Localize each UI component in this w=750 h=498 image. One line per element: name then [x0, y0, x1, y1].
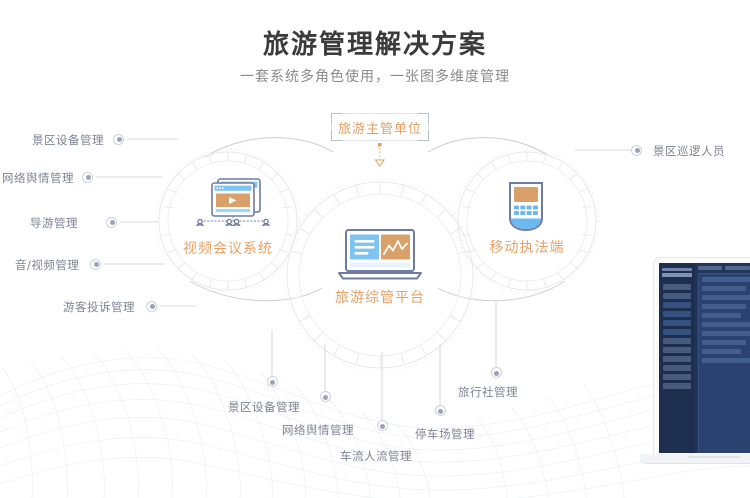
- dashboard-tree-row: [702, 322, 750, 327]
- spoke-dot-bottom-4: [491, 367, 502, 378]
- dashboard-tree-row: [702, 358, 750, 363]
- laptop-base: [640, 454, 750, 463]
- spoke-dot-left-4: [146, 301, 157, 312]
- spoke-dot-left-1: [82, 172, 93, 183]
- dashboard-main: [695, 263, 750, 453]
- spoke-dot-left-2: [106, 217, 117, 228]
- node-label-tourism-platform: 旅游综管平台: [280, 287, 480, 307]
- spoke-dot-left-3: [90, 259, 101, 270]
- spoke-label-left-2: 导游管理: [30, 215, 78, 231]
- dashboard-tree-row: [702, 286, 746, 291]
- dashboard-menu-item: [663, 338, 691, 344]
- dashboard-menu-item: [663, 365, 691, 371]
- spoke-dot-bottom-3: [435, 405, 446, 416]
- spoke-label-left-3: 音/视频管理: [15, 257, 79, 273]
- spoke-dot-bottom-1: [320, 391, 331, 402]
- dashboard-menu-item: [663, 347, 691, 353]
- spoke-label-left-1: 网络舆情管理: [2, 170, 74, 186]
- laptop-chart-icon: [334, 228, 426, 284]
- dashboard-tree-row: [702, 331, 750, 336]
- dashboard-preview: [659, 263, 750, 453]
- spoke-label-bottom-1: 网络舆情管理: [282, 422, 354, 438]
- infographic-canvas: 旅游管理解决方案 一套系统多角色使用，一张图多维度管理 旅游主管单位: [0, 0, 750, 498]
- dashboard-menu-item: [663, 356, 691, 362]
- dashboard-menu-item: [663, 293, 691, 299]
- spoke-label-bottom-3: 停车场管理: [415, 426, 475, 442]
- spoke-dot-left-0: [113, 134, 124, 145]
- spoke-label-bottom-4: 旅行社管理: [458, 384, 518, 400]
- video-window-icon: [186, 176, 272, 226]
- dashboard-menu-item-selected: [663, 302, 691, 308]
- dashboard-tree-row: [702, 313, 741, 318]
- dashboard-tree-row: [702, 349, 741, 354]
- dashboard-menu-item: [663, 374, 691, 380]
- authority-label: 旅游主管单位: [338, 118, 422, 137]
- dashboard-menu-item-selected: [663, 320, 691, 326]
- dashboard-menu-item-selected: [663, 329, 691, 335]
- spoke-label-bottom-0: 景区设备管理: [228, 399, 300, 415]
- laptop-screen: [654, 258, 750, 458]
- spoke-label-bottom-2: 车流人流管理: [340, 448, 412, 464]
- dashboard-tree-row: [702, 304, 746, 309]
- dashboard-logo: [662, 268, 692, 279]
- dashboard-topbar-item: [698, 266, 722, 270]
- dashboard-menu-item: [663, 383, 691, 389]
- node-label-mobile-enforcement: 移动执法端: [427, 237, 627, 257]
- dashboard-tree-row: [702, 295, 750, 300]
- handheld-device-icon: [502, 180, 550, 236]
- dashboard-tree-row: [702, 340, 746, 345]
- node-label-video-conference: 视频会议系统: [128, 238, 328, 258]
- dashboard-menu-item: [663, 284, 691, 290]
- spoke-dot-bottom-2: [377, 420, 388, 431]
- spoke-label-right-0: 景区巡逻人员: [653, 143, 725, 159]
- dashboard-topbar-item: [725, 266, 749, 270]
- spoke-dot-bottom-0: [267, 376, 278, 387]
- dashboard-tree-panel: [698, 273, 750, 458]
- dashboard-topbar: [698, 266, 750, 270]
- spoke-dot-right-0: [631, 145, 642, 156]
- dashboard-tree-row: [702, 277, 750, 282]
- spoke-label-left-4: 游客投诉管理: [63, 299, 135, 315]
- spoke-label-left-0: 景区设备管理: [32, 132, 104, 148]
- dashboard-menu-item-selected: [663, 311, 691, 317]
- dashboard-sidebar: [659, 263, 695, 453]
